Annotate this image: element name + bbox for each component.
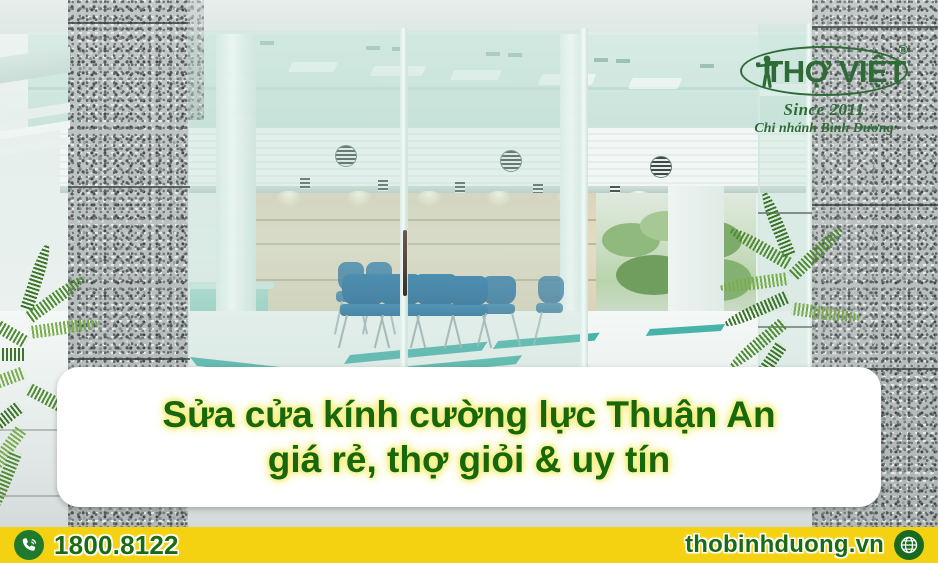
- banner-canvas: THỢ VIỆT ® Since 2011 Chi nhánh Bình Dươ…: [0, 0, 938, 563]
- granite-joint: [68, 186, 190, 188]
- glass-door-panel: [406, 30, 582, 370]
- globe-icon[interactable]: [894, 530, 924, 560]
- granite-joint: [812, 26, 938, 28]
- phone-group[interactable]: 1800.8122: [14, 530, 179, 560]
- ceiling-vent-icon: [650, 156, 672, 178]
- granite-joint: [68, 22, 190, 24]
- phone-call-icon[interactable]: [14, 530, 44, 560]
- worker-figure-icon: [756, 54, 778, 90]
- logo-oval-frame: THỢ VIỆT ®: [740, 46, 908, 96]
- headline-line-2: giá rẻ, thợ giỏi & uy tín: [268, 437, 670, 482]
- logo-since-text: Since 2011: [726, 100, 922, 120]
- glass-clip: [700, 64, 714, 68]
- palm-frond: [791, 302, 862, 325]
- headline-line-1: Sửa cửa kính cường lực Thuận An: [162, 392, 775, 437]
- door-mullion: [400, 28, 407, 373]
- website-group[interactable]: thobinhduong.vn: [685, 530, 924, 560]
- floor-stripe: [646, 324, 725, 336]
- registered-mark-icon: ®: [898, 42, 908, 57]
- ceiling-light-strip: [628, 78, 682, 89]
- website-url[interactable]: thobinhduong.vn: [685, 533, 884, 557]
- glass-clip: [616, 59, 630, 63]
- headline-card: Sửa cửa kính cường lực Thuận An giá rẻ, …: [57, 367, 881, 507]
- contact-bar: 1800.8122 thobinhduong.vn: [0, 527, 938, 563]
- right-interior-wall: [668, 186, 724, 321]
- palm-frond: [29, 316, 100, 339]
- palm-frond: [0, 348, 26, 361]
- glass-clip: [594, 58, 608, 62]
- granite-return-left: [188, 0, 204, 120]
- door-mullion: [580, 28, 588, 373]
- door-handle: [403, 230, 407, 296]
- phone-number[interactable]: 1800.8122: [54, 532, 179, 558]
- granite-joint: [812, 204, 938, 206]
- logo-branch-text: Chi nhánh Bình Dương: [726, 121, 922, 137]
- brand-logo: THỢ VIỆT ® Since 2011 Chi nhánh Bình Dươ…: [726, 46, 922, 151]
- glass-door-panel: [186, 30, 406, 370]
- palm-frond: [0, 366, 26, 402]
